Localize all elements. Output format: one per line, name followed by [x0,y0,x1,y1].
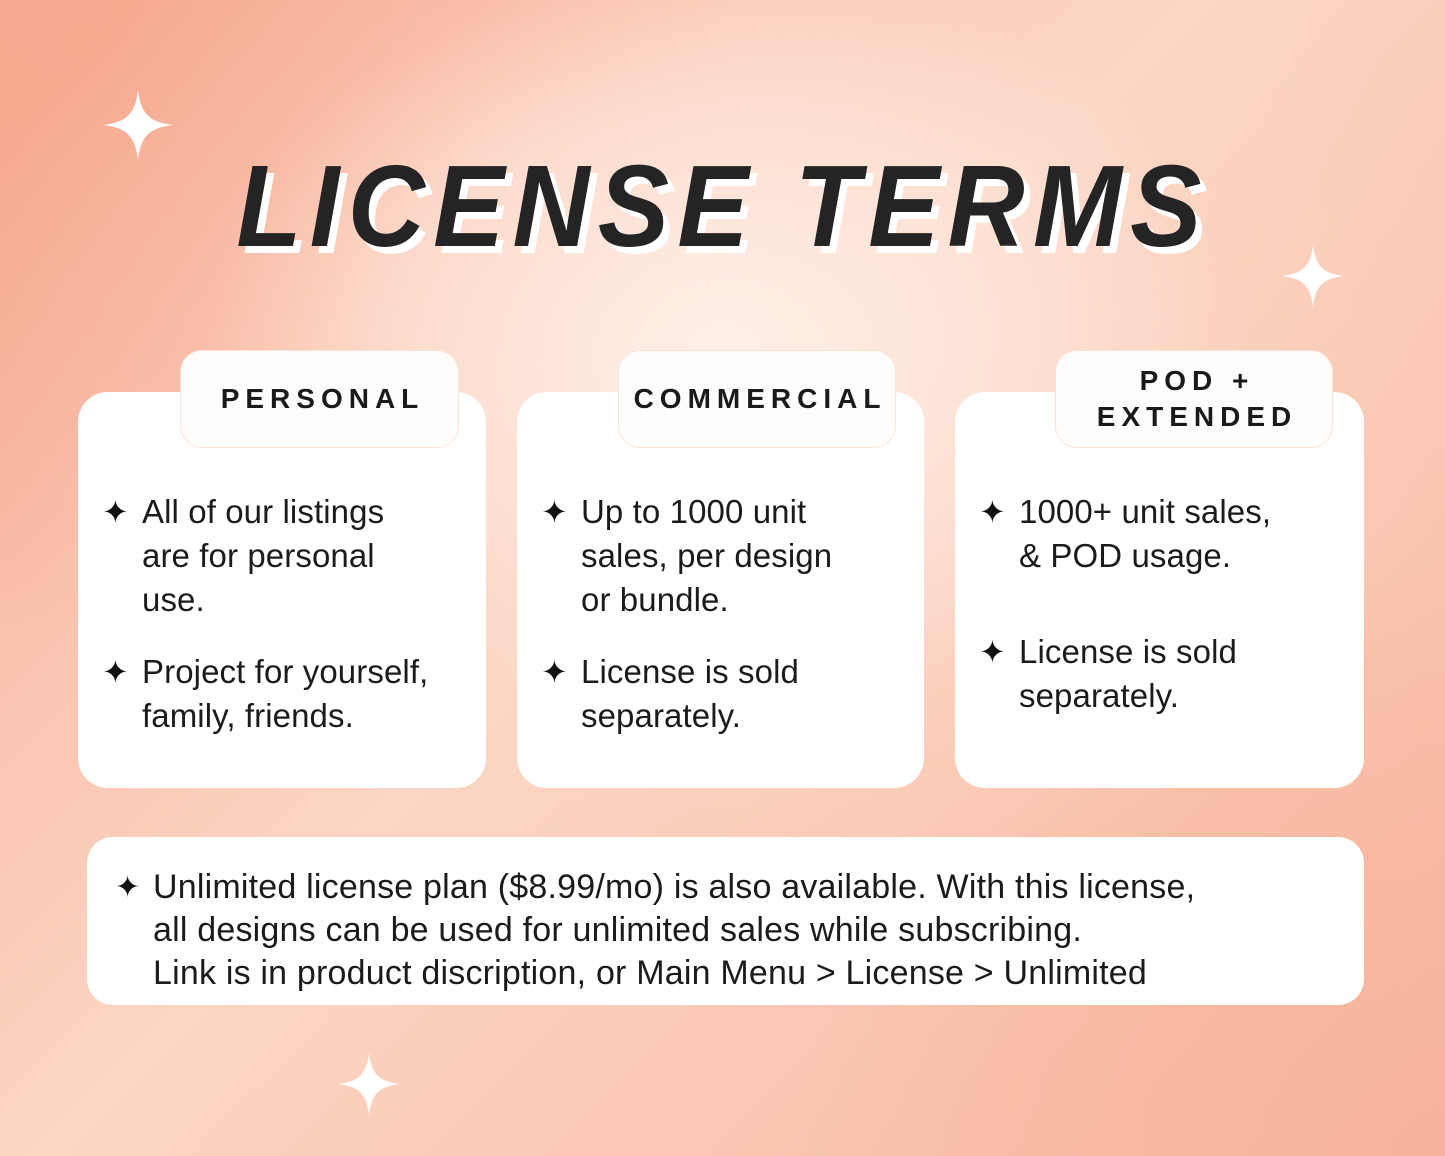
unlimited-plan-banner: ✦ Unlimited license plan ($8.99/mo) is a… [87,837,1364,1005]
sparkle-bullet-icon: ✦ [98,490,142,534]
bullet-text: License is sold separately. [581,650,924,738]
tier-card-row: PERSONAL COMMERCIAL POD + EXTENDED ✦ All… [78,350,1364,790]
bullet-text: License is sold separately. [1019,630,1364,718]
sparkle-bullet-icon: ✦ [115,866,153,909]
sparkle-bullet-icon: ✦ [98,650,142,694]
tier-body-personal: ✦ All of our listings are for personal u… [98,490,486,738]
bullet-text: 1000+ unit sales, & POD usage. [1019,490,1364,578]
list-item: ✦ License is sold separately. [537,650,924,738]
list-item: ✦ Up to 1000 unit sales, per design or b… [537,490,924,622]
bullet-text: All of our listings are for personal use… [142,490,486,622]
unlimited-plan-banner-inner: ✦ Unlimited license plan ($8.99/mo) is a… [87,837,1364,995]
tier-header-label-personal: PERSONAL [215,381,425,417]
tier-header-pod-extended: POD + EXTENDED [1055,350,1333,448]
list-item: ✦ All of our listings are for personal u… [98,490,486,622]
tier-header-label-commercial: COMMERCIAL [628,381,887,417]
tier-body-pod-extended: ✦ 1000+ unit sales, & POD usage. ✦ Licen… [975,490,1364,718]
sparkle-bullet-icon: ✦ [975,630,1019,674]
tier-header-commercial: COMMERCIAL [618,350,896,448]
sparkle-bottom-left-icon [338,1053,400,1115]
sparkle-bullet-icon: ✦ [975,490,1019,534]
list-item: ✦ Project for yourself, family, friends. [98,650,486,738]
license-terms-poster: LICENSE TERMS PERSONAL COMMERCIAL POD + … [0,0,1445,1156]
bullet-text: Up to 1000 unit sales, per design or bun… [581,490,924,622]
page-title-container: LICENSE TERMS [0,148,1445,264]
list-item: ✦ 1000+ unit sales, & POD usage. [975,490,1364,578]
sparkle-bullet-icon: ✦ [537,650,581,694]
page-title: LICENSE TERMS [236,148,1209,264]
tier-body-commercial: ✦ Up to 1000 unit sales, per design or b… [537,490,924,738]
list-item: ✦ License is sold separately. [975,630,1364,718]
unlimited-plan-text: Unlimited license plan ($8.99/mo) is als… [153,866,1334,995]
tier-header-personal: PERSONAL [180,350,459,448]
bullet-text: Project for yourself, family, friends. [142,650,486,738]
sparkle-bullet-icon: ✦ [537,490,581,534]
tier-header-label-pod-extended: POD + EXTENDED [1091,363,1297,435]
